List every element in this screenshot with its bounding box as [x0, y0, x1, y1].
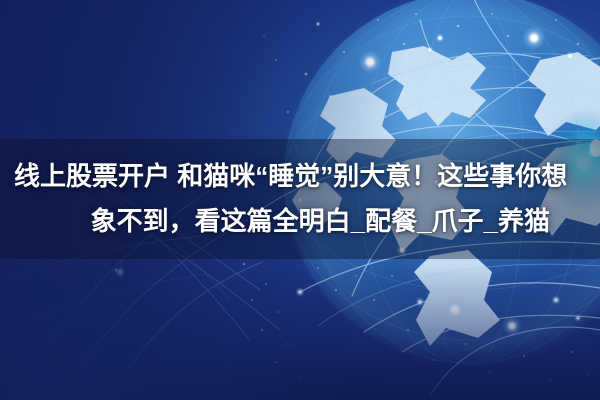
banner-image: 线上股票开户 和猫咪“睡觉”别大意！这些事你想 象不到，看这篇全明白_配餐_爪子…: [0, 0, 600, 400]
headline-line-1: 线上股票开户 和猫咪“睡觉”别大意！这些事你想: [14, 154, 586, 199]
headline-line-2: 象不到，看这篇全明白_配餐_爪子_养猫: [14, 199, 586, 244]
headline-text: 线上股票开户 和猫咪“睡觉”别大意！这些事你想 象不到，看这篇全明白_配餐_爪子…: [0, 139, 600, 259]
